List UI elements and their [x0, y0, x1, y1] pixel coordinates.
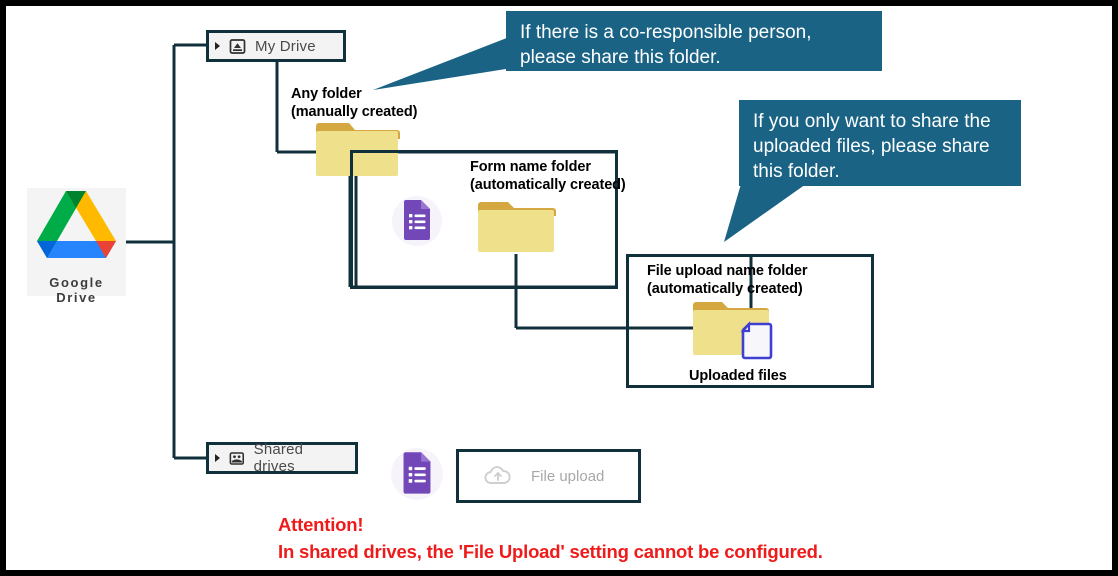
sidebar-item-shared-drives[interactable]: Shared drives	[206, 442, 358, 474]
form-name-folder-subtitle: (automatically created)	[470, 176, 626, 194]
google-forms-icon	[391, 193, 443, 254]
shared-drives-icon	[229, 450, 245, 467]
cloud-upload-icon	[483, 465, 513, 487]
my-drive-label: My Drive	[255, 38, 316, 55]
file-upload-name-folder-icon	[691, 298, 787, 360]
google-drive-label: Google Drive	[27, 275, 126, 305]
file-upload-question[interactable]: File upload	[456, 449, 641, 503]
sidebar-item-my-drive[interactable]: My Drive	[206, 30, 346, 62]
form-name-folder-title: Form name folder	[470, 158, 591, 176]
form-name-folder-icon	[476, 198, 556, 254]
shared-drives-label: Shared drives	[254, 441, 341, 475]
google-drive-logo	[27, 188, 126, 274]
google-forms-icon-bottom	[390, 445, 444, 508]
chevron-right-icon[interactable]	[215, 454, 220, 462]
callout-tail-2	[724, 184, 806, 242]
uploaded-file-icon	[743, 324, 771, 358]
chevron-right-icon[interactable]	[215, 42, 220, 50]
any-folder-title: Any folder	[291, 85, 362, 103]
file-upload-label: File upload	[531, 468, 604, 485]
google-drive-root: Google Drive	[27, 188, 126, 296]
file-upload-name-folder-title: File upload name folder	[647, 262, 807, 280]
uploaded-files-caption: Uploaded files	[689, 367, 787, 385]
diagram-canvas: Google Drive My Drive Shared drives Any …	[0, 0, 1118, 576]
callout-share-folder: If there is a co-responsible person, ple…	[506, 11, 882, 71]
callout-share-uploads: If you only want to share the uploaded f…	[739, 100, 1021, 186]
file-upload-name-folder-subtitle: (automatically created)	[647, 280, 803, 298]
attention-note: Attention! In shared drives, the 'File U…	[278, 511, 823, 565]
my-drive-icon	[229, 38, 246, 55]
callout-tail-1	[373, 36, 512, 90]
